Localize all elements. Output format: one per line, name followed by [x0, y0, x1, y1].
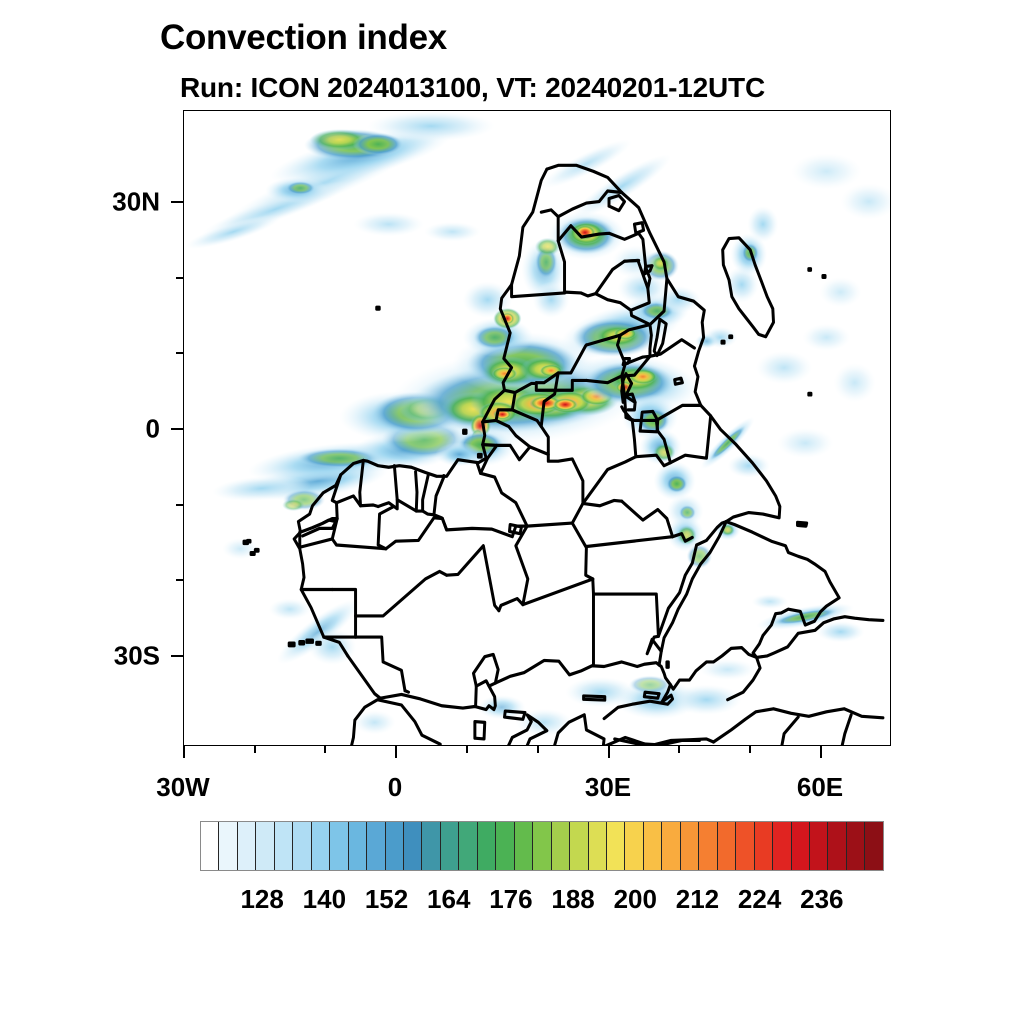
colorbar-segment[interactable] — [847, 822, 865, 870]
colorbar-segment[interactable] — [349, 822, 367, 870]
ytick-0 — [171, 428, 183, 430]
colorbar-tick-label: 200 — [614, 884, 657, 915]
colorbar-segment[interactable] — [644, 822, 662, 870]
xtick-10w — [324, 746, 326, 753]
xtick-10e — [466, 746, 468, 753]
xtick-30e — [608, 746, 610, 758]
colorbar-segment[interactable] — [755, 822, 773, 870]
xlabel-0: 0 — [388, 772, 402, 803]
ytick-10s — [176, 504, 183, 506]
colorbar-tick-label: 212 — [676, 884, 719, 915]
colorbar-tick-label: 164 — [427, 884, 470, 915]
colorbar-segment[interactable] — [828, 822, 846, 870]
colorbar-segment[interactable] — [570, 822, 588, 870]
colorbar[interactable] — [200, 821, 884, 871]
colorbar-segment[interactable] — [607, 822, 625, 870]
colorbar-segment[interactable] — [201, 822, 219, 870]
colorbar-segment[interactable] — [441, 822, 459, 870]
ylabel-30s: 30S — [60, 641, 160, 672]
figure-root: Convection index Run: ICON 2024013100, V… — [0, 0, 1024, 1024]
colorbar-segment[interactable] — [386, 822, 404, 870]
colorbar-segment[interactable] — [459, 822, 477, 870]
ylabel-0: 0 — [60, 414, 160, 445]
colorbar-segment[interactable] — [404, 822, 422, 870]
colorbar-segment[interactable] — [773, 822, 791, 870]
colorbar-segment[interactable] — [681, 822, 699, 870]
colorbar-segment[interactable] — [219, 822, 237, 870]
colorbar-segment[interactable] — [865, 822, 882, 870]
subtitle: Run: ICON 2024013100, VT: 20240201-12UTC — [180, 72, 765, 104]
colorbar-segment[interactable] — [330, 822, 348, 870]
colorbar-segment[interactable] — [552, 822, 570, 870]
xtick-20w — [254, 746, 256, 753]
colorbar-segment[interactable] — [496, 822, 514, 870]
colorbar-segment[interactable] — [515, 822, 533, 870]
colorbar-segment[interactable] — [293, 822, 311, 870]
colorbar-segment[interactable] — [312, 822, 330, 870]
colorbar-segment[interactable] — [792, 822, 810, 870]
ylabel-30n: 30N — [60, 187, 160, 218]
colorbar-tick-label: 176 — [489, 884, 532, 915]
colorbar-segment[interactable] — [662, 822, 680, 870]
colorbar-segment[interactable] — [625, 822, 643, 870]
colorbar-segment[interactable] — [718, 822, 736, 870]
xlabel-60e: 60E — [797, 772, 843, 803]
colorbar-segment[interactable] — [736, 822, 754, 870]
colorbar-tick-label: 152 — [365, 884, 408, 915]
ytick-20s — [176, 579, 183, 581]
colorbar-segment[interactable] — [533, 822, 551, 870]
xtick-40e — [678, 746, 680, 753]
colorbar-tick-label: 128 — [240, 884, 283, 915]
ytick-30n — [171, 201, 183, 203]
xtick-0 — [395, 746, 397, 758]
ytick-10n — [176, 352, 183, 354]
colorbar-tick-label: 188 — [551, 884, 594, 915]
page-title: Convection index — [160, 18, 447, 58]
colorbar-segment[interactable] — [367, 822, 385, 870]
xlabel-30e: 30E — [585, 772, 631, 803]
map-canvas — [184, 111, 890, 745]
colorbar-segment[interactable] — [256, 822, 274, 870]
colorbar-segment[interactable] — [810, 822, 828, 870]
colorbar-segment[interactable] — [589, 822, 607, 870]
colorbar-segment[interactable] — [238, 822, 256, 870]
colorbar-segment[interactable] — [478, 822, 496, 870]
colorbar-tick-label: 140 — [303, 884, 346, 915]
ytick-30s — [171, 655, 183, 657]
xlabel-30w: 30W — [156, 772, 209, 803]
colorbar-tick-label: 224 — [738, 884, 781, 915]
colorbar-segment[interactable] — [699, 822, 717, 870]
ytick-20n — [176, 277, 183, 279]
xtick-20e — [537, 746, 539, 753]
map-plot-area[interactable] — [183, 110, 891, 746]
xtick-50e — [749, 746, 751, 753]
colorbar-tick-label: 236 — [800, 884, 843, 915]
colorbar-segment[interactable] — [275, 822, 293, 870]
colorbar-segment[interactable] — [422, 822, 440, 870]
xtick-60e — [820, 746, 822, 758]
xtick-30w — [183, 746, 185, 758]
